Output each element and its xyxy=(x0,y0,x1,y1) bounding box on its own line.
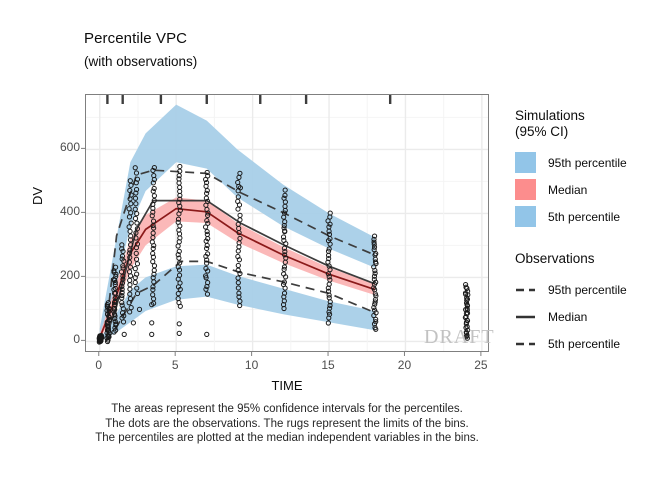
legend-spacer xyxy=(515,230,667,251)
observation-point xyxy=(464,282,468,286)
legend-simulations-title: Simulations (95% CI) xyxy=(515,108,667,140)
legend-item-sim-95th[interactable]: 95th percentile xyxy=(515,149,667,176)
legend-item-obs-median[interactable]: Median xyxy=(515,303,667,330)
legend-label-sim-5th: 5th percentile xyxy=(548,210,620,224)
legend-label-obs-95th: 95th percentile xyxy=(548,283,627,297)
legend-item-sim-5th[interactable]: 5th percentile xyxy=(515,203,667,230)
x-tick-label-25: 25 xyxy=(474,358,487,372)
x-tick-label-15: 15 xyxy=(321,358,334,372)
legend-observations-title: Observations xyxy=(515,251,667,267)
x-tick-label-0: 0 xyxy=(95,358,102,372)
chart-title: Percentile VPC xyxy=(84,30,187,47)
observation-point xyxy=(238,218,242,222)
legend-simulations-title-line2: (95% CI) xyxy=(515,124,667,140)
observation-point xyxy=(205,229,209,233)
observation-point xyxy=(177,331,181,335)
legend-swatch-95th-icon xyxy=(515,152,536,173)
observation-point xyxy=(131,321,135,325)
y-tick-label-0: 0 xyxy=(38,332,80,346)
observation-point xyxy=(152,264,156,268)
observation-point xyxy=(135,262,139,266)
observation-point xyxy=(205,188,209,192)
caption-line-1: The areas represent the 95% confidence i… xyxy=(0,402,574,417)
legend: Simulations (95% CI) 95th percentile Med… xyxy=(515,108,667,357)
observation-point xyxy=(150,332,154,336)
observation-point xyxy=(236,199,240,203)
plot-panel xyxy=(85,94,489,352)
x-axis-label: TIME xyxy=(0,378,574,393)
figure-caption: The areas represent the 95% confidence i… xyxy=(0,402,574,446)
legend-simulations-title-line1: Simulations xyxy=(515,108,667,124)
legend-dashed-line-95th-icon xyxy=(515,279,536,300)
legend-label-sim-95th: 95th percentile xyxy=(548,156,627,170)
observation-point xyxy=(178,164,182,168)
observation-point xyxy=(236,249,240,253)
observation-point xyxy=(177,322,181,326)
observation-point xyxy=(205,332,209,336)
legend-item-obs-5th[interactable]: 5th percentile xyxy=(515,330,667,357)
observation-point xyxy=(133,216,137,220)
observation-point xyxy=(122,332,126,336)
legend-label-sim-median: Median xyxy=(548,183,587,197)
observation-point xyxy=(236,207,240,211)
plot-canvas xyxy=(86,95,488,351)
observation-point xyxy=(152,186,156,190)
vpc-figure: Percentile VPC (with observations) DV 02… xyxy=(0,0,672,480)
y-tick-label-600: 600 xyxy=(38,140,80,154)
caption-line-2: The dots are the observations. The rugs … xyxy=(0,417,574,432)
observation-point xyxy=(133,267,137,271)
observation-point xyxy=(128,278,132,282)
observation-point xyxy=(128,287,132,291)
x-tick-label-5: 5 xyxy=(172,358,179,372)
legend-item-obs-95th[interactable]: 95th percentile xyxy=(515,276,667,303)
legend-swatch-5th-icon xyxy=(515,206,536,227)
observation-point xyxy=(150,321,154,325)
observation-point xyxy=(151,260,155,264)
observation-point xyxy=(152,194,156,198)
x-tick-label-10: 10 xyxy=(245,358,258,372)
legend-item-sim-median[interactable]: Median xyxy=(515,176,667,203)
observation-point xyxy=(151,189,155,193)
y-tick-label-400: 400 xyxy=(38,204,80,218)
observation-point xyxy=(236,263,240,267)
caption-line-3: The percentiles are plotted at the media… xyxy=(0,431,574,446)
y-tick-label-200: 200 xyxy=(38,268,80,282)
x-tick-label-20: 20 xyxy=(398,358,411,372)
chart-subtitle: (with observations) xyxy=(84,54,197,69)
legend-label-obs-median: Median xyxy=(548,310,587,324)
legend-solid-line-median-icon xyxy=(515,306,536,327)
observation-point xyxy=(128,283,132,287)
legend-swatch-median-icon xyxy=(515,179,536,200)
observation-point xyxy=(133,280,137,284)
legend-dashed-line-5th-icon xyxy=(515,333,536,354)
bin-limit-rugs xyxy=(107,95,390,104)
legend-label-obs-5th: 5th percentile xyxy=(548,337,620,351)
